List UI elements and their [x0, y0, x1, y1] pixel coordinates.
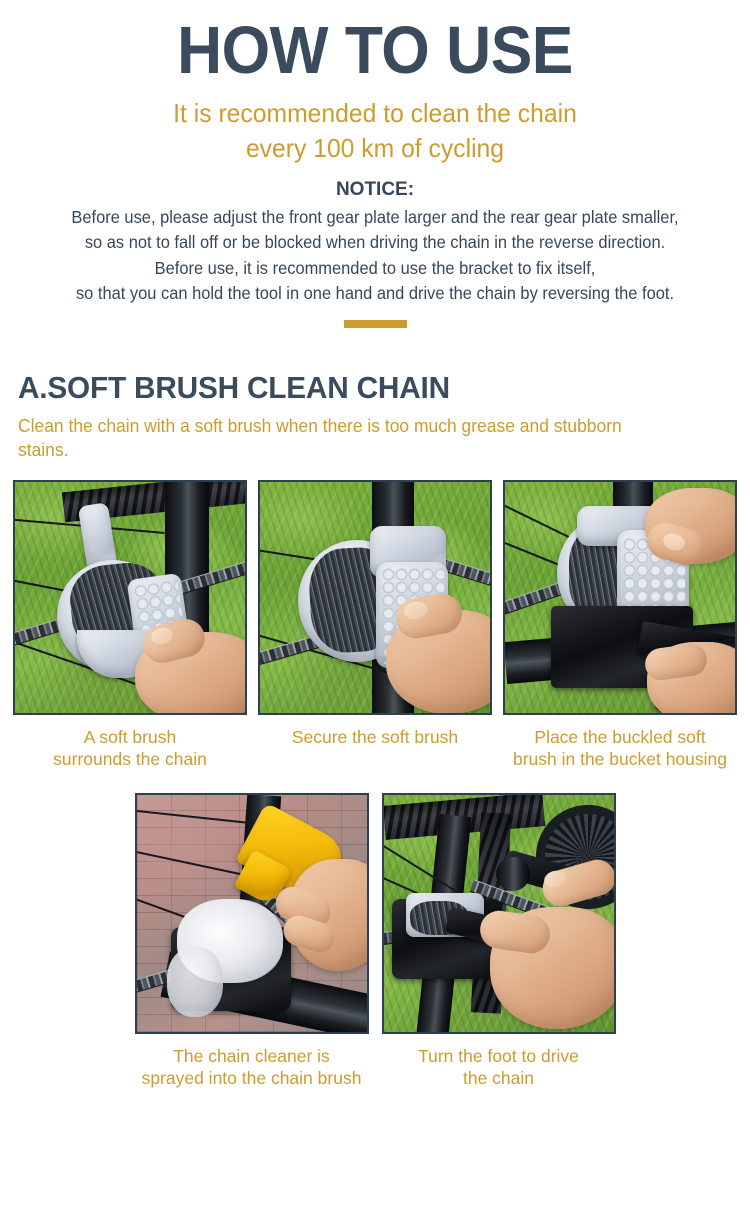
header-subtitle: It is recommended to clean the chain eve… [19, 84, 732, 165]
step-card-5: Turn the foot to drive the chain [382, 793, 616, 1090]
step-caption-3-line-2: brush in the bucket housing [503, 749, 737, 771]
step-photo-row-top: A soft brush surrounds the chain [0, 463, 750, 771]
notice-line-3: Before use, it is recommended to use the… [23, 256, 728, 281]
subtitle-line-2: every 100 km of cycling [19, 131, 732, 166]
step-caption-1: A soft brush surrounds the chain [13, 715, 247, 771]
step-caption-2: Secure the soft brush [258, 715, 492, 749]
step-photo-1 [13, 480, 247, 715]
step-caption-4-line-2: sprayed into the chain brush [135, 1068, 369, 1090]
step-caption-4-line-1: The chain cleaner is [135, 1046, 369, 1068]
notice-title: NOTICE: [0, 178, 750, 202]
step-card-4: The chain cleaner is sprayed into the ch… [135, 793, 369, 1090]
step-photo-3 [503, 480, 737, 715]
subtitle-line-1: It is recommended to clean the chain [19, 96, 732, 131]
step-caption-3: Place the buckled soft brush in the buck… [503, 715, 737, 771]
section-a: A.SOFT BRUSH CLEAN CHAIN Clean the chain… [0, 328, 750, 463]
step-card-3: Place the buckled soft brush in the buck… [503, 480, 737, 771]
section-divider [0, 306, 750, 328]
notice-line-4: so that you can hold the tool in one han… [23, 281, 728, 306]
section-a-description-line-1: Clean the chain with a soft brush when t… [18, 416, 549, 436]
divider-bar [344, 320, 407, 328]
step-caption-1-line-1: A soft brush [13, 727, 247, 749]
step-photo-row-bottom: The chain cleaner is sprayed into the ch… [0, 771, 750, 1090]
step-caption-5: Turn the foot to drive the chain [382, 1034, 616, 1090]
notice-block: NOTICE: Before use, please adjust the fr… [0, 165, 750, 306]
step-card-1: A soft brush surrounds the chain [13, 480, 247, 771]
step-caption-1-line-2: surrounds the chain [13, 749, 247, 771]
step-caption-5-line-1: Turn the foot to drive [382, 1046, 616, 1068]
step-photo-2 [258, 480, 492, 715]
step-caption-2-line-1: Secure the soft brush [258, 727, 492, 749]
step-photo-5 [382, 793, 616, 1034]
step-caption-4: The chain cleaner is sprayed into the ch… [135, 1034, 369, 1090]
step-photo-4 [135, 793, 369, 1034]
step-caption-3-line-1: Place the buckled soft [503, 727, 737, 749]
section-a-description: Clean the chain with a soft brush when t… [18, 403, 639, 463]
section-a-heading: A.SOFT BRUSH CLEAN CHAIN [18, 328, 703, 403]
step-card-2: Secure the soft brush [258, 480, 492, 771]
page-title: HOW TO USE [26, 0, 724, 84]
notice-line-2: so as not to fall off or be blocked when… [23, 230, 728, 255]
step-caption-5-line-2: the chain [382, 1068, 616, 1090]
notice-line-1: Before use, please adjust the front gear… [23, 205, 728, 230]
